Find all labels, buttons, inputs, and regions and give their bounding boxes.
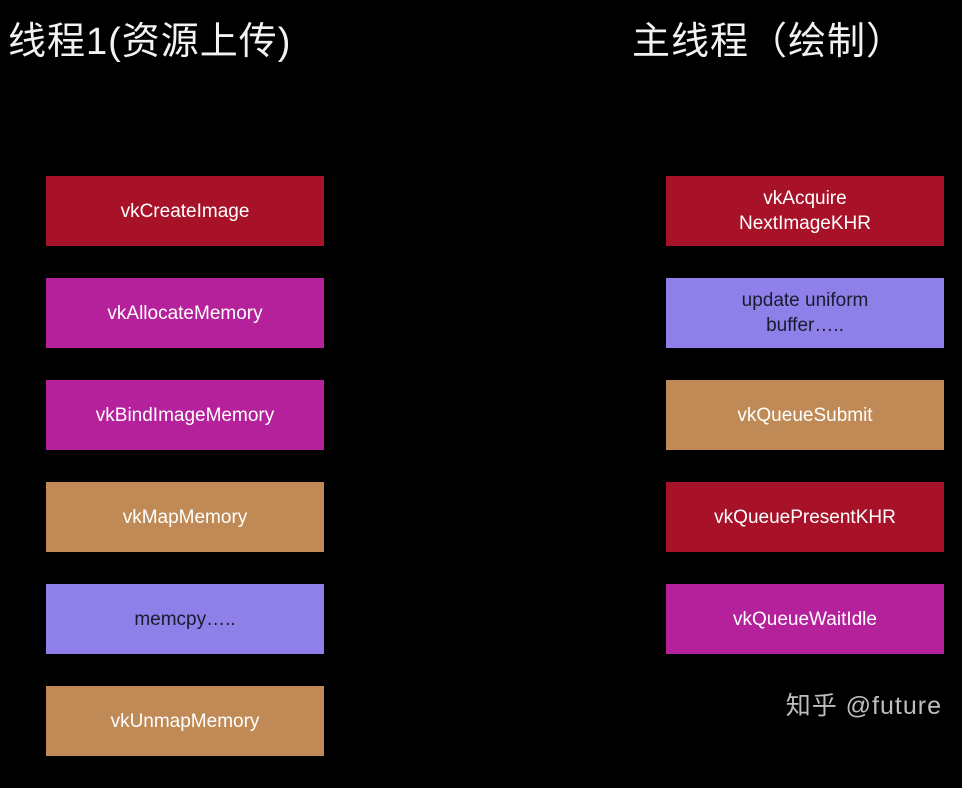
node-label: vkQueueWaitIdle (733, 607, 877, 632)
node-label: vkQueueSubmit (737, 403, 872, 428)
node-label: vkUnmapMemory (111, 709, 260, 734)
node-label: vkCreateImage (121, 199, 250, 224)
node-label: update uniformbuffer….. (742, 288, 869, 338)
node-label: vkBindImageMemory (96, 403, 274, 428)
node-right-0: vkAcquireNextImageKHR (666, 176, 944, 246)
column-title-right: 主线程（绘制） (632, 10, 905, 65)
node-label: vkMapMemory (123, 505, 248, 530)
node-left-3: vkMapMemory (46, 482, 324, 552)
column-title-left: 线程1(资源上传) (8, 10, 291, 65)
node-label: vkAcquireNextImageKHR (739, 186, 871, 236)
node-right-2: vkQueueSubmit (666, 380, 944, 450)
node-left-2: vkBindImageMemory (46, 380, 324, 450)
node-left-4: memcpy….. (46, 584, 324, 654)
column-left-thread1: vkCreateImagevkAllocateMemoryvkBindImage… (46, 176, 324, 788)
node-right-3: vkQueuePresentKHR (666, 482, 944, 552)
node-left-0: vkCreateImage (46, 176, 324, 246)
node-right-1: update uniformbuffer….. (666, 278, 944, 348)
node-left-5: vkUnmapMemory (46, 686, 324, 756)
column-right-mainthread: vkAcquireNextImageKHRupdate uniformbuffe… (666, 176, 944, 686)
node-left-1: vkAllocateMemory (46, 278, 324, 348)
node-label: vkQueuePresentKHR (714, 505, 896, 530)
diagram-canvas: 线程1(资源上传) 主线程（绘制） vkCreateImagevkAllocat… (0, 0, 962, 740)
node-label: vkAllocateMemory (107, 301, 262, 326)
node-right-4: vkQueueWaitIdle (666, 584, 944, 654)
watermark: 知乎 @future (786, 686, 942, 722)
node-label: memcpy….. (134, 607, 235, 632)
